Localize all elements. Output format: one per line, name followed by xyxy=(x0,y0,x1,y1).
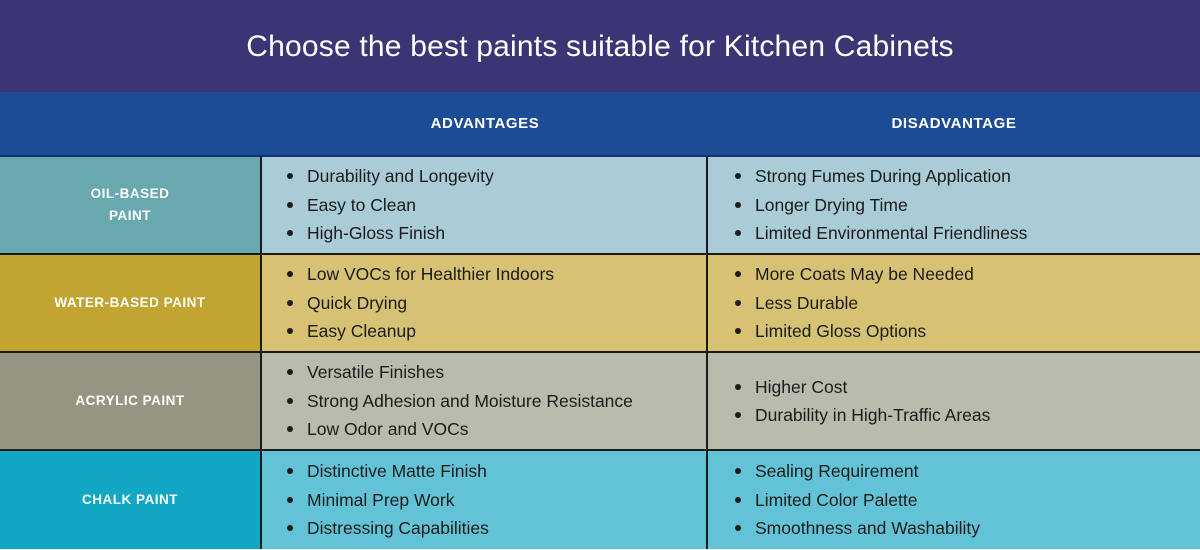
list-item: Distinctive Matte Finish xyxy=(280,457,489,485)
list-item: Strong Adhesion and Moisture Resistance xyxy=(280,387,633,415)
paint-type-label: WATER-BASED PAINT xyxy=(54,292,205,314)
list-item: Easy to Clean xyxy=(280,191,494,219)
disadvantages-cell: More Coats May be NeededLess DurableLimi… xyxy=(708,255,1200,351)
list-item: Durability and Longevity xyxy=(280,162,494,190)
advantages-list: Distinctive Matte FinishMinimal Prep Wor… xyxy=(280,457,489,542)
list-item: Sealing Requirement xyxy=(728,457,980,485)
advantages-cell: Durability and LongevityEasy to CleanHig… xyxy=(262,157,708,253)
table-row: CHALK PAINTDistinctive Matte FinishMinim… xyxy=(0,451,1200,549)
disadvantages-list: More Coats May be NeededLess DurableLimi… xyxy=(728,260,974,345)
advantages-list: Durability and LongevityEasy to CleanHig… xyxy=(280,162,494,247)
advantages-list: Versatile FinishesStrong Adhesion and Mo… xyxy=(280,358,633,443)
table-row: OIL-BASED PAINTDurability and LongevityE… xyxy=(0,157,1200,255)
list-item: Low Odor and VOCs xyxy=(280,415,633,443)
paint-type-label: CHALK PAINT xyxy=(82,489,178,511)
list-item: Distressing Capabilities xyxy=(280,514,489,542)
header-cell-advantages: ADVANTAGES xyxy=(262,92,708,155)
disadvantages-list: Strong Fumes During ApplicationLonger Dr… xyxy=(728,162,1027,247)
paint-comparison-infographic: Choose the best paints suitable for Kitc… xyxy=(0,0,1200,550)
header-cell-disadvantage: DISADVANTAGE xyxy=(708,92,1200,155)
disadvantages-list: Higher CostDurability in High-Traffic Ar… xyxy=(728,373,990,430)
list-item: Durability in High-Traffic Areas xyxy=(728,401,990,429)
disadvantages-list: Sealing RequirementLimited Color Palette… xyxy=(728,457,980,542)
header-cell-paint-type xyxy=(0,92,262,155)
table-row: ACRYLIC PAINTVersatile FinishesStrong Ad… xyxy=(0,353,1200,451)
list-item: Limited Color Palette xyxy=(728,486,980,514)
header-label-disadvantage: DISADVANTAGE xyxy=(892,115,1017,132)
advantages-list: Low VOCs for Healthier IndoorsQuick Dryi… xyxy=(280,260,554,345)
header-label-advantages: ADVANTAGES xyxy=(431,115,540,132)
paint-type-label: OIL-BASED PAINT xyxy=(91,183,170,226)
advantages-cell: Low VOCs for Healthier IndoorsQuick Dryi… xyxy=(262,255,708,351)
paint-type-cell: ACRYLIC PAINT xyxy=(0,353,262,449)
disadvantages-cell: Strong Fumes During ApplicationLonger Dr… xyxy=(708,157,1200,253)
list-item: High-Gloss Finish xyxy=(280,219,494,247)
list-item: Versatile Finishes xyxy=(280,358,633,386)
list-item: Limited Environmental Friendliness xyxy=(728,219,1027,247)
title-bar: Choose the best paints suitable for Kitc… xyxy=(0,0,1200,92)
advantages-cell: Versatile FinishesStrong Adhesion and Mo… xyxy=(262,353,708,449)
disadvantages-cell: Higher CostDurability in High-Traffic Ar… xyxy=(708,353,1200,449)
list-item: Smoothness and Washability xyxy=(728,514,980,542)
list-item: More Coats May be Needed xyxy=(728,260,974,288)
table-header-row: ADVANTAGES DISADVANTAGE xyxy=(0,92,1200,157)
list-item: Low VOCs for Healthier Indoors xyxy=(280,260,554,288)
paint-type-label: ACRYLIC PAINT xyxy=(75,390,184,412)
list-item: Higher Cost xyxy=(728,373,990,401)
list-item: Easy Cleanup xyxy=(280,317,554,345)
list-item: Strong Fumes During Application xyxy=(728,162,1027,190)
page-title: Choose the best paints suitable for Kitc… xyxy=(246,30,954,63)
advantages-cell: Distinctive Matte FinishMinimal Prep Wor… xyxy=(262,451,708,549)
list-item: Minimal Prep Work xyxy=(280,486,489,514)
paint-type-cell: OIL-BASED PAINT xyxy=(0,157,262,253)
list-item: Less Durable xyxy=(728,289,974,317)
table-row: WATER-BASED PAINTLow VOCs for Healthier … xyxy=(0,255,1200,353)
list-item: Longer Drying Time xyxy=(728,191,1027,219)
paint-type-cell: CHALK PAINT xyxy=(0,451,262,549)
table-body: OIL-BASED PAINTDurability and LongevityE… xyxy=(0,157,1200,549)
disadvantages-cell: Sealing RequirementLimited Color Palette… xyxy=(708,451,1200,549)
list-item: Limited Gloss Options xyxy=(728,317,974,345)
list-item: Quick Drying xyxy=(280,289,554,317)
paint-type-cell: WATER-BASED PAINT xyxy=(0,255,262,351)
